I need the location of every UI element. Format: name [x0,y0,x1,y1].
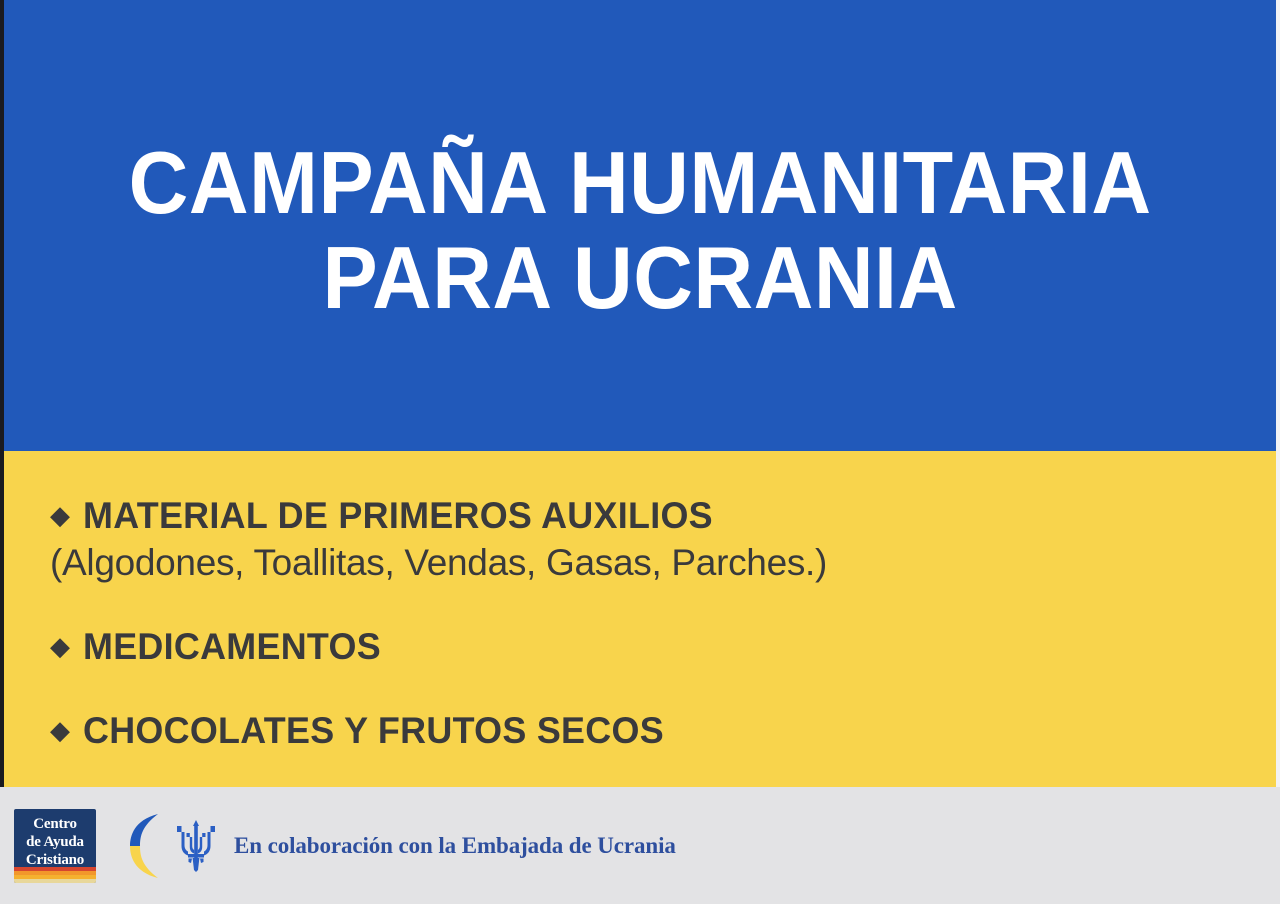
ukraine-tryzub-trident-icon [174,820,218,872]
list-item-subtitle: (Algodones, Toallitas, Vendas, Gasas, Pa… [50,542,1280,584]
right-edge-strip [1276,0,1280,787]
left-edge-strip [0,0,4,787]
list-item: ◆ MATERIAL DE PRIMEROS AUXILIOS (Algodon… [50,495,1280,584]
list-item-heading: ◆ MEDICAMENTOS [50,626,1280,668]
poster-root: CAMPAÑA HUMANITARIA PARA UCRANIA ◆ MATER… [0,0,1280,904]
list-item-heading: ◆ CHOCOLATES Y FRUTOS SECOS [50,710,1280,752]
diamond-bullet-icon: ◆ [50,633,70,659]
list-item-title: CHOCOLATES Y FRUTOS SECOS [83,710,664,752]
list-item: ◆ CHOCOLATES Y FRUTOS SECOS [50,710,1280,752]
list-item-title: MATERIAL DE PRIMEROS AUXILIOS [83,495,713,537]
list-item: ◆ MEDICAMENTOS [50,626,1280,668]
collaboration-text: En colaboración con la Embajada de Ucran… [234,833,676,859]
ukraine-flag-crescent-icon [126,810,164,882]
list-item-title: MEDICAMENTOS [83,626,381,668]
donation-items-section: ◆ MATERIAL DE PRIMEROS AUXILIOS (Algodon… [0,451,1280,787]
logo-text: Centro de Ayuda Cristiano [14,815,96,870]
logo-stripes-decoration [14,867,96,883]
diamond-bullet-icon: ◆ [50,502,70,528]
centro-de-ayuda-cristiano-logo: Centro de Ayuda Cristiano [14,809,96,883]
page-title: CAMPAÑA HUMANITARIA PARA UCRANIA [91,136,1189,324]
diamond-bullet-icon: ◆ [50,717,70,743]
header-banner: CAMPAÑA HUMANITARIA PARA UCRANIA [0,0,1280,451]
footer-bar: Centro de Ayuda Cristiano [0,787,1280,904]
list-item-heading: ◆ MATERIAL DE PRIMEROS AUXILIOS [50,495,1280,537]
